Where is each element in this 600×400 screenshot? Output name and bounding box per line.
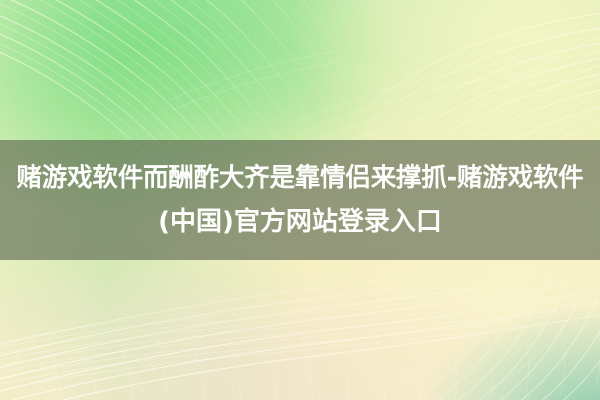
headline-overlay-band: 赌游戏软件而酬酢大齐是靠情侣来撑抓-赌游戏软件 (中国)官方网站登录入口 (0, 140, 600, 260)
banner-graphic: 赌游戏软件而酬酢大齐是靠情侣来撑抓-赌游戏软件 (中国)官方网站登录入口 (0, 0, 600, 400)
headline-line-1: 赌游戏软件而酬酢大齐是靠情侣来撑抓-赌游戏软件 (0, 156, 600, 200)
headline-line-2: (中国)官方网站登录入口 (0, 200, 600, 244)
